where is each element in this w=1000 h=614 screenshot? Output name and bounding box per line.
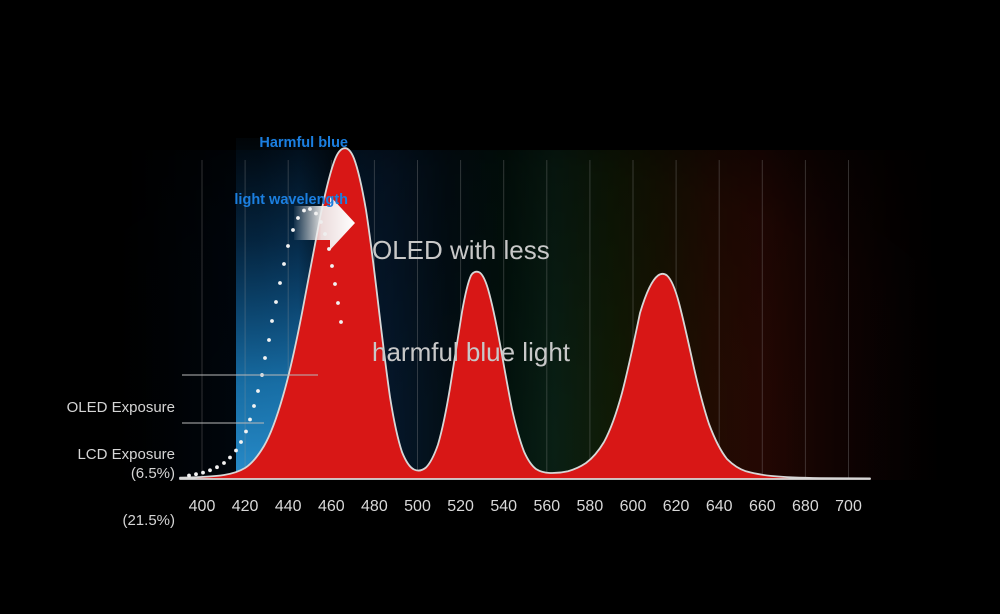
lcd-exposure-label-line1: LCD Exposure — [20, 444, 175, 466]
x-tick-700: 700 — [819, 498, 879, 516]
chart-title: OLED with less harmful blue light — [372, 165, 570, 437]
chart-title-line1: OLED with less — [372, 233, 570, 267]
harmful-blue-band-label-line2: light wavelength — [188, 191, 348, 210]
lcd-exposure-label: LCD Exposure (21.5%) — [20, 400, 175, 576]
lcd-exposure-label-line2: (21.5%) — [20, 510, 175, 532]
harmful-blue-band-label-line1: Harmful blue — [188, 134, 348, 153]
chart-title-line2: harmful blue light — [372, 335, 570, 369]
spectrum-chart-figure: Harmful blue light wavelength OLED with … — [0, 0, 1000, 614]
harmful-blue-band-label: Harmful blue light wavelength — [188, 96, 348, 248]
